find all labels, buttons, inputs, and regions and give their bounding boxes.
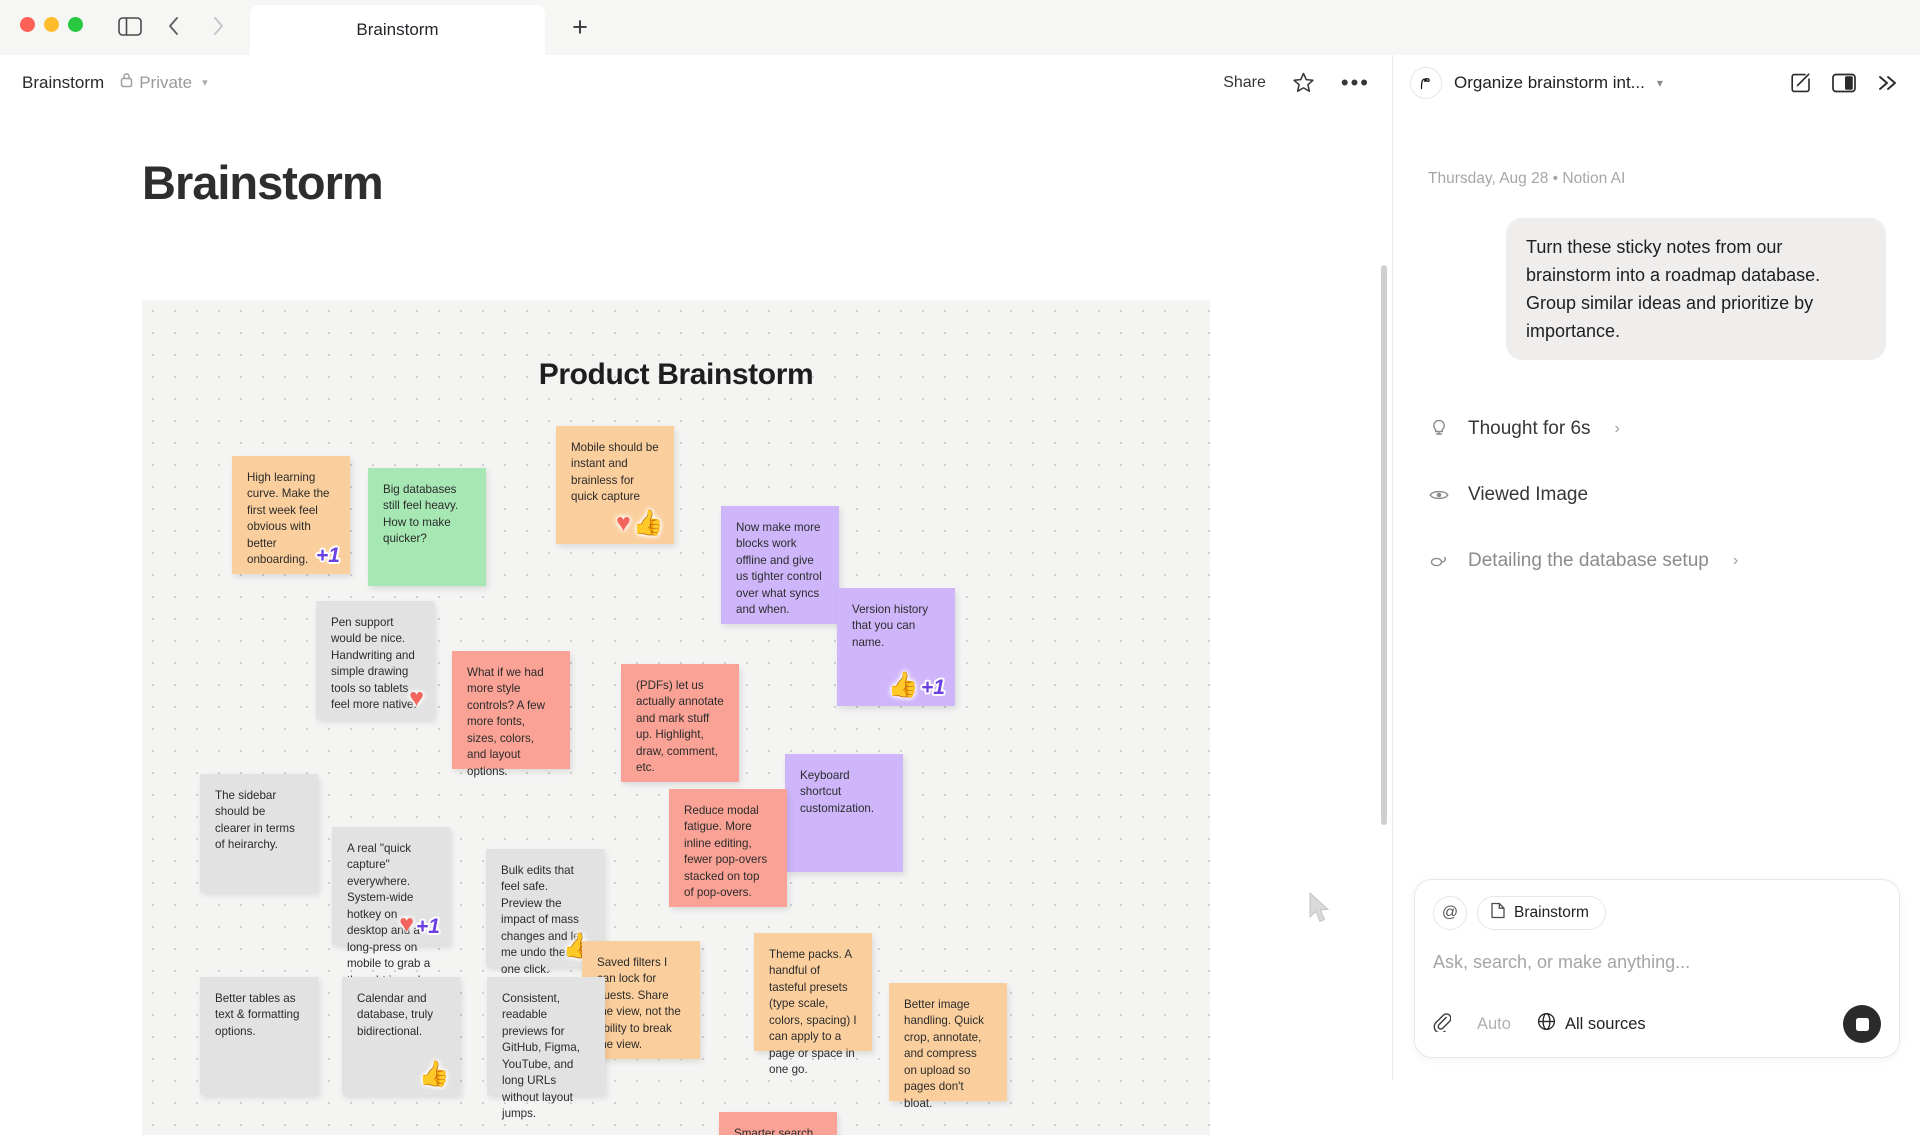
- lock-icon: [120, 72, 133, 93]
- sticky-note-text: Saved filters I can lock for guests. Sha…: [597, 955, 685, 1054]
- sticky-note[interactable]: Keyboard shortcut customization.: [785, 754, 903, 872]
- sticky-note-reactions[interactable]: +1: [316, 545, 340, 566]
- heart-reaction-icon[interactable]: ♥: [399, 912, 414, 937]
- sticky-note[interactable]: Now make more blocks work offline and gi…: [721, 506, 839, 624]
- context-chip-label: Brainstorm: [1514, 904, 1589, 922]
- breadcrumb-title[interactable]: Brainstorm: [22, 73, 104, 93]
- sticky-note-text: Smarter search chips.: [734, 1126, 822, 1135]
- collapse-panel-icon[interactable]: [1876, 73, 1900, 93]
- conversation-source: Notion AI: [1562, 170, 1625, 187]
- heart-reaction-icon[interactable]: ♥: [616, 511, 631, 536]
- chevron-down-icon: ▾: [202, 76, 208, 89]
- sticky-note-reactions[interactable]: ♥: [409, 686, 424, 711]
- plus-icon: +: [572, 14, 588, 41]
- meta-separator: •: [1553, 170, 1558, 187]
- ai-composer[interactable]: @ Brainstorm Ask, search, or make anythi…: [1414, 879, 1900, 1058]
- sticky-note[interactable]: Mobile should be instant and brainless f…: [556, 426, 674, 544]
- model-selector[interactable]: Auto: [1477, 1015, 1511, 1034]
- sources-selector[interactable]: All sources: [1537, 1012, 1646, 1036]
- pencil-loop-icon: [1428, 553, 1450, 569]
- sticky-note-text: Reduce modal fatigue. More inline editin…: [684, 803, 772, 902]
- sticky-note-text: Big databases still feel heavy. How to m…: [383, 482, 471, 548]
- traffic-lights: [20, 17, 83, 32]
- ai-conversation: Thursday, Aug 28 • Notion AI Turn these …: [1394, 170, 1920, 594]
- sticky-note[interactable]: (PDFs) let us actually annotate and mark…: [621, 664, 739, 782]
- conversation-meta: Thursday, Aug 28 • Notion AI: [1428, 170, 1886, 188]
- maximize-window-button[interactable]: [68, 17, 83, 32]
- plus-one-badge[interactable]: +1: [416, 916, 440, 937]
- sticky-note-text: What if we had more style controls? A fe…: [467, 665, 555, 780]
- sticky-note[interactable]: A real "quick capture" everywhere. Syste…: [332, 827, 450, 945]
- plus-one-badge[interactable]: +1: [316, 545, 340, 566]
- navigate-forward-icon: [204, 12, 232, 40]
- conversation-date: Thursday, Aug 28: [1428, 170, 1548, 187]
- step-label: Thought for 6s: [1468, 418, 1591, 440]
- step-detailing-database[interactable]: Detailing the database setup ›: [1428, 528, 1886, 594]
- ai-panel-actions: [1790, 72, 1900, 94]
- step-thought[interactable]: Thought for 6s ›: [1428, 396, 1886, 462]
- stop-generation-button[interactable]: [1843, 1005, 1881, 1043]
- sticky-note-reactions[interactable]: 👍: [419, 1062, 450, 1087]
- plus-one-badge[interactable]: +1: [921, 677, 945, 698]
- navigate-back-icon[interactable]: [160, 12, 188, 40]
- chevron-down-icon[interactable]: ▾: [1657, 76, 1663, 90]
- more-options-icon[interactable]: •••: [1341, 76, 1370, 89]
- sticky-note[interactable]: Calendar and database, truly bidirection…: [342, 977, 460, 1095]
- share-button[interactable]: Share: [1223, 74, 1266, 92]
- sticky-note-text: Calendar and database, truly bidirection…: [357, 991, 445, 1040]
- ai-side-panel: Organize brainstorm int... ▾ Thursday, A…: [1394, 55, 1920, 1080]
- ai-panel-header: Organize brainstorm int... ▾: [1394, 55, 1920, 110]
- window-title-bar: Brainstorm +: [0, 0, 1920, 55]
- lightbulb-icon: [1428, 419, 1450, 439]
- whiteboard-canvas[interactable]: Product Brainstorm High learning curve. …: [142, 300, 1210, 1135]
- sticky-note-text: The sidebar should be clearer in terms o…: [215, 788, 303, 854]
- sticky-note-text: Now make more blocks work offline and gi…: [736, 520, 824, 619]
- attach-file-button[interactable]: [1433, 1012, 1451, 1037]
- document-area: Brainstorm Private ▾ Share ••• Brainstor…: [0, 55, 1393, 1080]
- sticky-note-text: Pen support would be nice. Handwriting a…: [331, 615, 419, 714]
- sticky-note-text: Better tables as text & formatting optio…: [215, 991, 303, 1040]
- thumbs-up-reaction-icon[interactable]: 👍: [888, 673, 919, 698]
- privacy-label: Private: [139, 73, 192, 93]
- eye-icon: [1428, 488, 1450, 502]
- favorite-star-icon[interactable]: [1292, 71, 1315, 94]
- sticky-note[interactable]: Better image handling. Quick crop, annot…: [889, 983, 1007, 1101]
- step-label: Viewed Image: [1468, 484, 1588, 506]
- toggle-sidebar-icon[interactable]: [116, 12, 144, 40]
- sticky-note-text: Keyboard shortcut customization.: [800, 768, 888, 817]
- context-chip-brainstorm[interactable]: Brainstorm: [1477, 896, 1606, 930]
- sticky-note[interactable]: Big databases still feel heavy. How to m…: [368, 468, 486, 586]
- at-icon: @: [1442, 904, 1458, 922]
- mouse-cursor: [1308, 892, 1334, 931]
- sticky-note[interactable]: Better tables as text & formatting optio…: [200, 977, 318, 1095]
- document-icon: [1491, 902, 1505, 924]
- composer-toolbar: Auto All sources: [1433, 1005, 1881, 1043]
- chevron-right-icon: ›: [1615, 420, 1620, 438]
- model-label: Auto: [1477, 1015, 1511, 1034]
- sticky-note-text: Mobile should be instant and brainless f…: [571, 440, 659, 506]
- step-viewed-image[interactable]: Viewed Image: [1428, 462, 1886, 528]
- sticky-note-text: Theme packs. A handful of tasteful prese…: [769, 947, 857, 1079]
- document-header-actions: Share •••: [1223, 71, 1370, 94]
- sticky-note[interactable]: Smarter search chips.: [719, 1112, 837, 1135]
- sticky-note-reactions[interactable]: ♥+1: [399, 912, 440, 937]
- sticky-note-text: Version history that you can name.: [852, 602, 940, 651]
- mention-button[interactable]: @: [1433, 896, 1467, 930]
- sticky-note-text: (PDFs) let us actually annotate and mark…: [636, 678, 724, 777]
- sticky-note[interactable]: High learning curve. Make the first week…: [232, 456, 350, 574]
- sticky-note-text: Bulk edits that feel safe. Preview the i…: [501, 863, 589, 978]
- browser-tab-brainstorm[interactable]: Brainstorm: [250, 5, 545, 55]
- sticky-note-text: Better image handling. Quick crop, annot…: [904, 997, 992, 1112]
- ai-conversation-title[interactable]: Organize brainstorm int...: [1454, 73, 1645, 93]
- document-scrollbar[interactable]: [1381, 265, 1387, 825]
- privacy-selector[interactable]: Private ▾: [120, 72, 207, 93]
- sticky-note[interactable]: Version history that you can name.👍+1: [837, 588, 955, 706]
- thumbs-up-reaction-icon[interactable]: 👍: [633, 511, 664, 536]
- minimize-window-button[interactable]: [44, 17, 59, 32]
- step-label: Detailing the database setup: [1468, 550, 1709, 572]
- globe-icon: [1537, 1012, 1556, 1036]
- sticky-note[interactable]: Theme packs. A handful of tasteful prese…: [754, 933, 872, 1051]
- sticky-note-reactions[interactable]: 👍+1: [888, 673, 945, 698]
- user-message-bubble: Turn these sticky notes from our brainst…: [1506, 218, 1886, 360]
- page-title[interactable]: Brainstorm: [142, 155, 383, 210]
- toggle-panel-icon[interactable]: [1832, 73, 1856, 93]
- paperclip-icon: [1433, 1012, 1451, 1037]
- heart-reaction-icon[interactable]: ♥: [409, 686, 424, 711]
- sticky-note[interactable]: Consistent, readable previews for GitHub…: [487, 977, 605, 1095]
- tab-label: Brainstorm: [356, 20, 438, 40]
- sticky-note[interactable]: The sidebar should be clearer in terms o…: [200, 774, 318, 892]
- sticky-note[interactable]: What if we had more style controls? A fe…: [452, 651, 570, 769]
- sources-label: All sources: [1565, 1015, 1646, 1034]
- ai-steps-list: Thought for 6s › Viewed Image Detailing …: [1428, 396, 1886, 594]
- new-tab-button[interactable]: +: [565, 12, 595, 42]
- composer-context-chips: @ Brainstorm: [1433, 896, 1881, 930]
- chevron-right-icon: ›: [1733, 552, 1738, 570]
- canvas-title: Product Brainstorm: [142, 358, 1210, 392]
- ai-prompt-input[interactable]: Ask, search, or make anything...: [1433, 952, 1881, 973]
- sticky-note-text: Consistent, readable previews for GitHub…: [502, 991, 590, 1123]
- close-window-button[interactable]: [20, 17, 35, 32]
- notion-ai-logo-icon: [1410, 67, 1442, 99]
- sticky-note-reactions[interactable]: ♥👍: [616, 511, 664, 536]
- sticky-note[interactable]: Reduce modal fatigue. More inline editin…: [669, 789, 787, 907]
- stop-square-icon: [1856, 1018, 1869, 1031]
- thumbs-up-reaction-icon[interactable]: 👍: [419, 1062, 450, 1087]
- document-header: Brainstorm Private ▾ Share •••: [0, 55, 1392, 110]
- new-chat-icon[interactable]: [1790, 72, 1812, 94]
- sticky-note[interactable]: Pen support would be nice. Handwriting a…: [316, 601, 434, 719]
